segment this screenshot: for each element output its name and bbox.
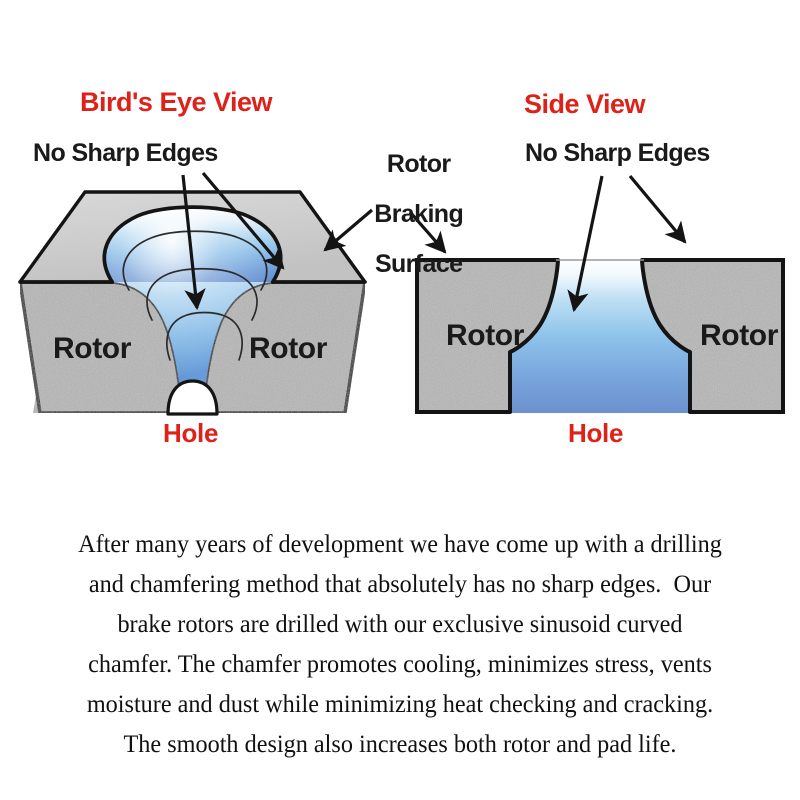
birds-eye-rotor-label-right: Rotor	[249, 333, 327, 365]
callout-rotor-braking-surface-line1: Rotor	[387, 150, 451, 178]
description-line-4: chamfer. The chamfer promotes cooling, m…	[20, 644, 780, 684]
birds-eye-view-block	[20, 192, 365, 414]
callout-rotor-braking-surface-line2: Braking	[374, 200, 463, 228]
description-line-1: After many years of development we have …	[20, 524, 780, 564]
side-view-rotor-label-left: Rotor	[446, 320, 524, 352]
birds-eye-hole-label: Hole	[163, 420, 218, 448]
description-paragraph: After many years of development we have …	[0, 524, 800, 764]
description-line-2: and chamfering method that absolutely ha…	[20, 564, 780, 604]
callout-no-sharp-edges-right: No Sharp Edges	[525, 140, 710, 167]
side-view-rotor-label-right: Rotor	[700, 320, 778, 352]
figure-diagram-area: Bird's Eye View No Sharp Edges Rotor Bra…	[0, 0, 800, 480]
arrow-no-sharp-edges-right-b	[630, 176, 685, 242]
callout-rotor-braking-surface: Rotor Braking Surface	[344, 127, 468, 302]
description-line-5: moisture and dust while minimizing heat …	[20, 684, 780, 724]
callout-no-sharp-edges-left: No Sharp Edges	[33, 140, 218, 167]
side-view-hole-label: Hole	[568, 420, 623, 448]
callout-rotor-braking-surface-line3: Surface	[375, 250, 463, 278]
description-line-6: The smooth design also increases both ro…	[20, 724, 780, 764]
side-view-title: Side View	[524, 90, 645, 119]
birds-eye-rotor-label-left: Rotor	[53, 333, 131, 365]
description-line-3: brake rotors are drilled with our exclus…	[20, 604, 780, 644]
birds-eye-view-title: Bird's Eye View	[80, 88, 272, 117]
